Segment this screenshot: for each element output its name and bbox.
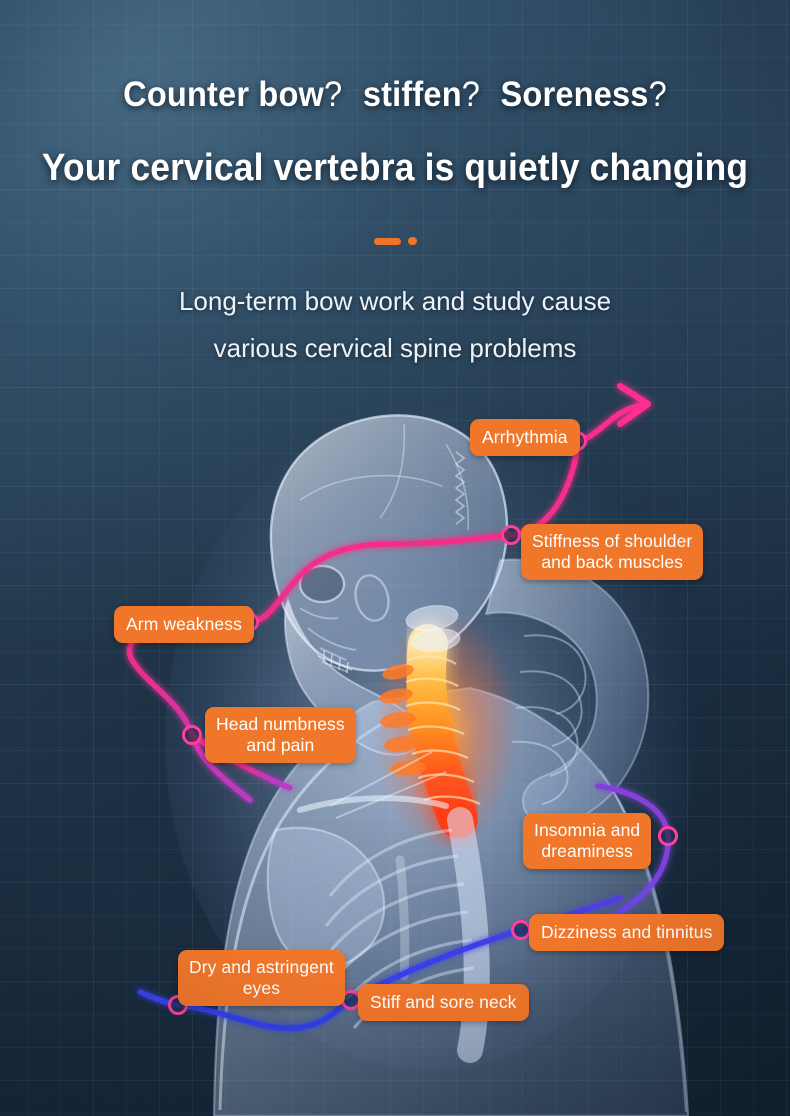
title-question-1: ? [324, 75, 342, 114]
page-title-line-1: Counter bow?stiffen?Soreness? [28, 74, 763, 116]
orange-dot-icon [408, 237, 417, 245]
node-stiffness [503, 527, 520, 544]
callout-insomnia[interactable]: Insomnia and dreaminess [523, 813, 651, 869]
node-head-numbness [184, 727, 201, 744]
page-title-line-2: Your cervical vertebra is quietly changi… [28, 145, 763, 191]
callout-dry-eyes[interactable]: Dry and astringent eyes [178, 950, 345, 1006]
orange-dash-icon [374, 238, 401, 245]
callout-head-numbness[interactable]: Head numbness and pain [205, 707, 356, 763]
callout-arm-weakness[interactable]: Arm weakness [114, 606, 254, 643]
callout-dizziness[interactable]: Dizziness and tinnitus [529, 914, 724, 951]
title-question-3: ? [649, 75, 667, 114]
title-part-stiffen: stiffen [363, 75, 462, 114]
node-insomnia [660, 828, 677, 845]
subtitle: Long-term bow work and study cause vario… [0, 278, 790, 372]
subtitle-line-2: various cervical spine problems [0, 325, 790, 372]
title-part-counter-bow: Counter bow [123, 75, 324, 114]
heading-block: Counter bow?stiffen?Soreness? Your cervi… [0, 74, 790, 191]
callout-stiff-neck[interactable]: Stiff and sore neck [358, 984, 529, 1021]
title-question-2: ? [462, 75, 480, 114]
node-stiff-neck [343, 992, 360, 1009]
callout-stiffness[interactable]: Stiffness of shoulder and back muscles [521, 524, 703, 580]
callout-arrhythmia[interactable]: Arrhythmia [470, 419, 580, 456]
divider [0, 237, 790, 245]
infographic-poster: Counter bow?stiffen?Soreness? Your cervi… [0, 0, 790, 1116]
title-part-soreness: Soreness [501, 75, 649, 114]
node-dizziness [513, 922, 530, 939]
subtitle-line-1: Long-term bow work and study cause [0, 278, 790, 325]
